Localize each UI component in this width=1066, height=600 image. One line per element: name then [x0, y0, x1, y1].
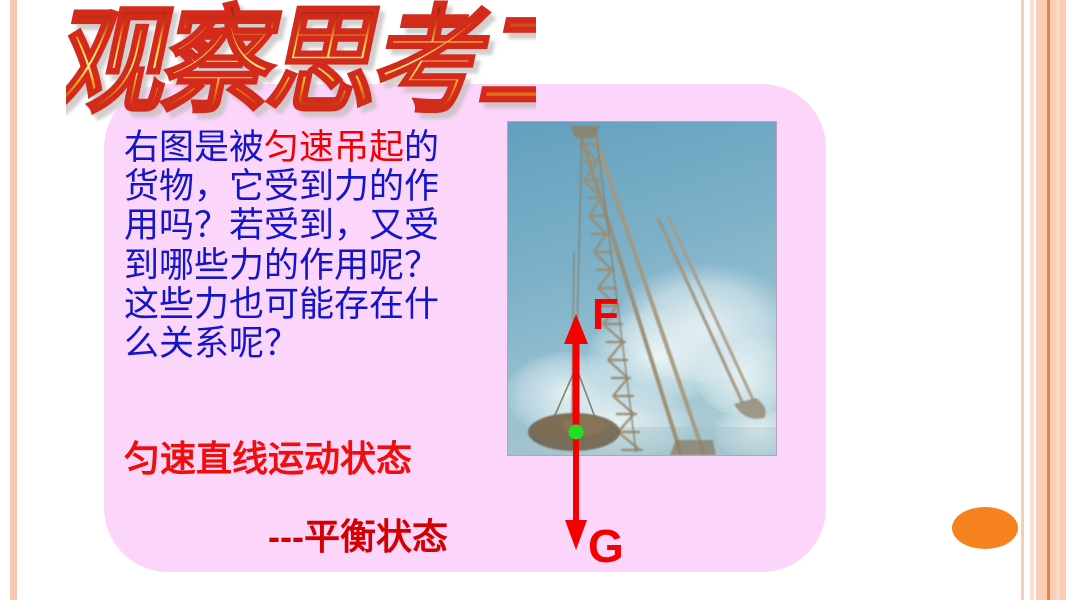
- question-line-3: 用吗？若受到，又受: [124, 206, 504, 245]
- question-line-2: 货物，它受到力的作: [124, 167, 504, 206]
- question-text-block: 右图是被匀速吊起的 货物，它受到力的作 用吗？若受到，又受 到哪些力的作用呢？ …: [124, 128, 504, 363]
- conclusion-line-2: ---平衡状态: [268, 508, 448, 560]
- question-line-1b: 的: [404, 128, 439, 167]
- right-accent-stripe-7: [1060, 0, 1066, 600]
- question-line-1: 右图是被匀速吊起的: [124, 128, 504, 167]
- slide-canvas: F G 右图是被匀速吊起的 货物，它受到力的作 用吗？若受到，又受 到哪些力的作…: [0, 0, 1066, 600]
- orange-ellipse-decoration: [952, 507, 1018, 549]
- question-line-5: 这些力也可能存在什: [124, 285, 504, 324]
- right-accent-stripe-1: [1021, 0, 1024, 600]
- conclusion-line-1: 匀速直线运动状态: [124, 430, 412, 482]
- question-line-6: 么关系呢？: [124, 324, 504, 363]
- right-accent-stripe-3: [1036, 0, 1047, 600]
- force-label-g: G: [588, 519, 624, 573]
- right-accent-stripe-2: [1030, 0, 1034, 600]
- crane-photo: [508, 122, 776, 455]
- question-line-1a: 右图是被: [124, 128, 264, 167]
- question-highlight: 匀速吊起: [264, 128, 404, 167]
- left-accent-stripe: [10, 0, 17, 600]
- force-label-f: F: [592, 290, 619, 340]
- question-line-4: 到哪些力的作用呢？: [124, 246, 504, 285]
